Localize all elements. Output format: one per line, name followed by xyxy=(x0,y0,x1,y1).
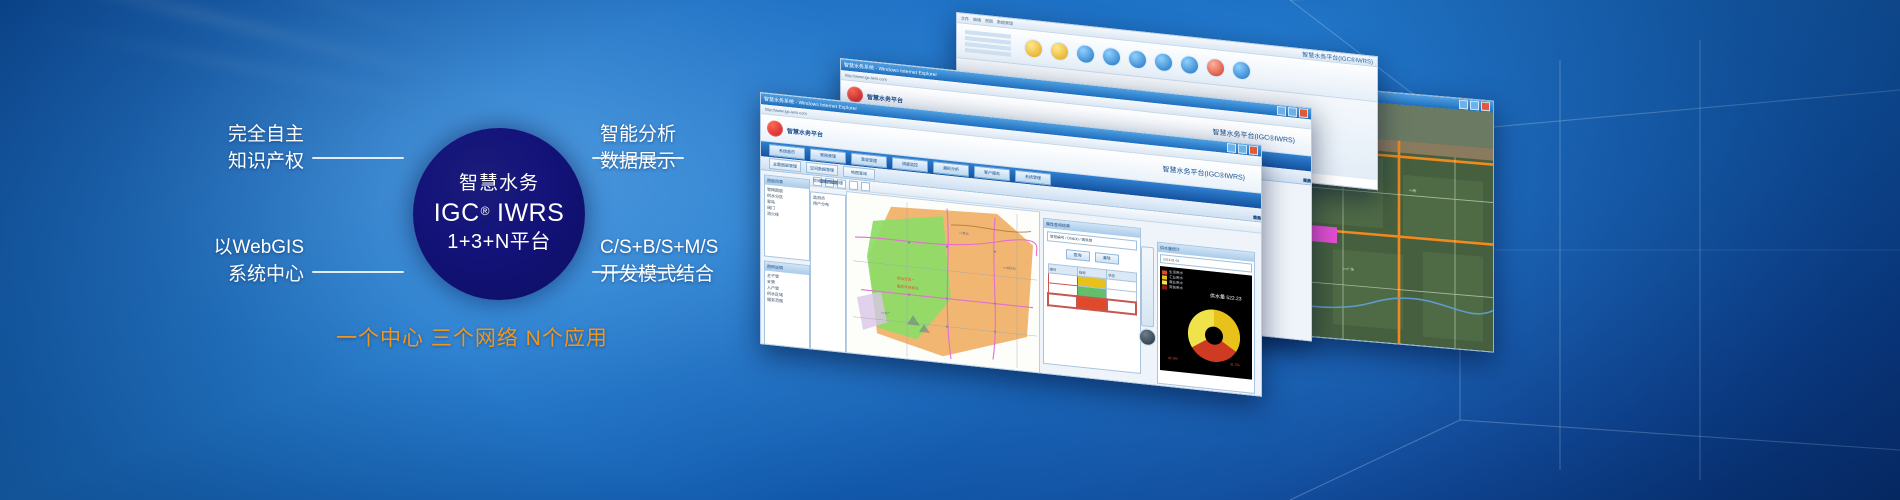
hero-banner: 完全自主 知识产权 以WebGIS 系统中心 智能分析 数据展示 C/S+B/S… xyxy=(0,0,1900,500)
front-subnav-spatial-data[interactable]: 空间数据管理 xyxy=(806,162,838,176)
minimize-icon[interactable] xyxy=(1459,100,1468,110)
ribbon-icon-analysis[interactable] xyxy=(1128,49,1147,70)
front-subnav-theme-layers[interactable]: 主题图层管理 xyxy=(769,158,801,172)
concept-diagram: 完全自主 知识产权 以WebGIS 系统中心 智能分析 数据展示 C/S+B/S… xyxy=(0,0,800,500)
legend-list: 主干管 支管 入户管 供水区域 服务范围 xyxy=(765,271,809,310)
map-pan-slider[interactable] xyxy=(1141,246,1154,327)
feature-label-bottom-right: C/S+B/S+M/S 开发模式结合 xyxy=(600,235,718,289)
ribbon-icon-report[interactable] xyxy=(1154,51,1173,72)
svg-text:42.3%: 42.3% xyxy=(1168,356,1178,361)
center-circle: 智慧水务 IGC®IWRS 1+3+N平台 xyxy=(413,128,585,300)
feature-label-bottom-left: 以WebGIS 系统中心 xyxy=(184,235,304,289)
front-subnav-map-query[interactable]: 地图查询 xyxy=(843,166,875,180)
close-icon[interactable] xyxy=(1299,108,1308,118)
svg-text:××水厂: ××水厂 xyxy=(881,310,890,316)
feature-bottom-right-line1: C/S+B/S+M/S xyxy=(600,235,718,262)
window-front[interactable]: 智慧水务系统 - Windows Internet Explorer http:… xyxy=(760,92,1262,397)
maximize-icon[interactable] xyxy=(1470,101,1479,111)
ribbon-icon-pipe-query[interactable] xyxy=(1024,38,1043,59)
ribbon-icon-gps[interactable] xyxy=(1206,57,1225,78)
svg-text:××泵站: ××泵站 xyxy=(959,230,968,236)
middle-link-logout[interactable]: 退出登录 xyxy=(1303,177,1312,185)
circle-brand-igc: IGC xyxy=(434,200,480,228)
circle-line-2: IGC®IWRS xyxy=(434,200,565,228)
feature-label-top-left: 完全自主 知识产权 xyxy=(184,122,304,176)
gis-map-canvas[interactable]: 供水分区一服务半径标注 ××泵站××加压站××水厂 xyxy=(846,191,1040,373)
feature-tree-panel[interactable]: 监测点 用户分布 xyxy=(810,191,846,353)
attribute-query-button[interactable]: 查询 xyxy=(1066,249,1090,262)
ribbon-icon-data-maintenance[interactable] xyxy=(1050,40,1069,61)
close-icon[interactable] xyxy=(1249,145,1258,155)
attribute-query-dialog[interactable]: 属性查询结果 管段编号 / DN400 / 铸铁管 查询 清除 编号 指标 状态 xyxy=(1043,218,1141,374)
back-menu-edit[interactable]: 编辑 xyxy=(973,16,981,23)
ribbon-icon-realtime[interactable] xyxy=(1180,54,1199,75)
middle-logo-text: 智慧水务平台 xyxy=(867,91,903,104)
measure-tool-icon[interactable] xyxy=(861,181,870,191)
registered-mark-icon: ® xyxy=(481,205,490,218)
feature-label-top-right: 智能分析 数据展示 xyxy=(600,122,676,176)
water-drop-logo-icon xyxy=(767,120,783,138)
maximize-icon[interactable] xyxy=(1238,144,1247,154)
ribbon-icon-statistics[interactable] xyxy=(1102,46,1121,67)
pie-chart-svg: 供水量 522.23 42.3% 31.7% xyxy=(1160,266,1252,380)
attribute-result-table[interactable]: 编号 指标 状态 xyxy=(1047,263,1137,315)
legend-panel[interactable]: 图例说明 主干管 支管 入户管 供水区域 服务范围 xyxy=(764,260,810,349)
pie-center-value: 供水量 522.23 xyxy=(1210,292,1242,302)
front-link-logout[interactable]: 退出登录 xyxy=(1253,214,1262,222)
ribbon-icon-monitor[interactable] xyxy=(1076,43,1095,64)
close-icon[interactable] xyxy=(1481,102,1490,112)
minimize-icon[interactable] xyxy=(1277,106,1286,116)
back-menu-data[interactable]: 数据管理 xyxy=(997,19,1013,27)
feature-bottom-left-line1: 以WebGIS xyxy=(184,235,304,262)
application-screenshots: 智慧水务客户端 xyxy=(760,0,1900,500)
feature-top-right-line2: 数据展示 xyxy=(600,149,676,176)
back-ribbon-menu-block[interactable] xyxy=(965,30,1011,57)
connector-bottom-left xyxy=(312,271,404,273)
select-tool-icon[interactable] xyxy=(849,180,858,190)
layer-tree-panel[interactable]: 图层目录 管网图层 供水分区 泵站 阀门 消火栓 xyxy=(764,174,810,261)
connector-top-left xyxy=(312,157,404,159)
back-menu-view[interactable]: 视图 xyxy=(985,18,993,25)
back-menu-file[interactable]: 文件 xyxy=(961,15,969,22)
feature-top-left-line2: 知识产权 xyxy=(184,149,304,176)
layer-tree-list[interactable]: 管网图层 供水分区 泵站 阀门 消火栓 xyxy=(765,185,809,224)
minimize-icon[interactable] xyxy=(1227,143,1236,153)
tagline: 一个中心 三个网络 N个应用 xyxy=(336,322,608,352)
svg-text:31.7%: 31.7% xyxy=(1230,362,1240,367)
circle-line-1: 智慧水务 xyxy=(459,174,539,195)
circle-brand-iwrs: IWRS xyxy=(497,200,564,228)
front-app-title: 智慧水务平台(IGC®IWRS) xyxy=(1162,164,1245,183)
pie-chart-area: 生活用水 工业用水 商业用水 xyxy=(1160,266,1252,380)
gis-map-svg: 供水分区一服务半径标注 ××泵站××加压站××水厂 xyxy=(847,192,1039,372)
feature-bottom-right-line2: 开发模式结合 xyxy=(600,262,718,289)
attribute-clear-button[interactable]: 清除 xyxy=(1095,252,1119,265)
feature-bottom-left-line2: 系统中心 xyxy=(184,262,304,289)
svg-text:××广场: ××广场 xyxy=(1343,266,1354,272)
maximize-icon[interactable] xyxy=(1288,107,1297,117)
circle-line-3: 1+3+N平台 xyxy=(447,230,551,254)
feature-top-left-line1: 完全自主 xyxy=(184,122,304,149)
svg-text:××街: ××街 xyxy=(1409,187,1417,193)
pie-chart-dialog[interactable]: 供水量统计 2013-01-01 生活用水 工业 xyxy=(1157,242,1255,394)
ribbon-icon-settings[interactable] xyxy=(1232,59,1251,80)
feature-tree-list[interactable]: 监测点 用户分布 xyxy=(811,192,845,212)
feature-top-right-line1: 智能分析 xyxy=(600,122,676,149)
map-navigation-ball[interactable] xyxy=(1139,328,1156,347)
front-logo-text: 智慧水务平台 xyxy=(787,125,823,138)
